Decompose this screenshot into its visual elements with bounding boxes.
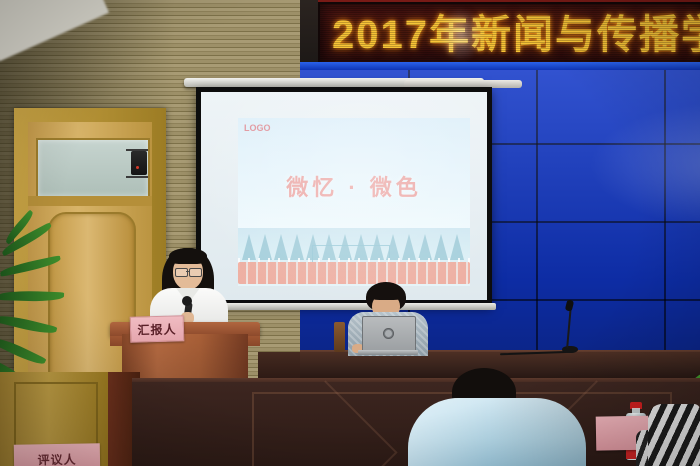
crowd-row (238, 262, 470, 284)
speaker-bangs (169, 248, 207, 264)
microphone-base (562, 346, 578, 353)
conference-hall-photo: 2017年新闻与传播学院 LOGO 微忆 · 微色 (0, 0, 700, 466)
door-closer-arm-lower (126, 176, 148, 178)
glasses-left-lens-icon (175, 268, 188, 277)
handheld-microphone-head-icon (182, 296, 192, 306)
podium-sign-text: 汇报人 (137, 320, 176, 338)
operator-fringe (369, 288, 404, 300)
door-rail (28, 196, 152, 206)
glasses-bridge (186, 271, 190, 272)
glasses-right-lens-icon (189, 268, 202, 277)
audience-shirt-sheen (408, 398, 586, 466)
audience-member-right (648, 404, 700, 466)
screen-bottom-bar (196, 303, 496, 310)
name-placard-left: 评议人 (14, 443, 101, 466)
hp-logo-icon (383, 328, 394, 339)
projected-slide: LOGO 微忆 · 微色 (238, 118, 470, 286)
door-closer-icon (131, 151, 147, 175)
led-banner-text: 2017年新闻与传播学院 (332, 7, 700, 63)
podium-sign: 汇报人 (130, 315, 185, 342)
chair-back (334, 322, 345, 352)
name-placard-left-text: 评议人 (37, 450, 76, 466)
slide-title: 微忆 · 微色 (238, 170, 470, 202)
led-banner: 2017年新闻与传播学院 (318, 2, 700, 68)
banner-glare (438, 8, 484, 62)
projection-screen: LOGO 微忆 · 微色 (201, 92, 487, 300)
door-closer-indicator (136, 166, 139, 169)
laptop-base[interactable] (358, 350, 418, 355)
slide-photo (238, 228, 470, 286)
slide-logo-icon: LOGO (244, 123, 271, 133)
